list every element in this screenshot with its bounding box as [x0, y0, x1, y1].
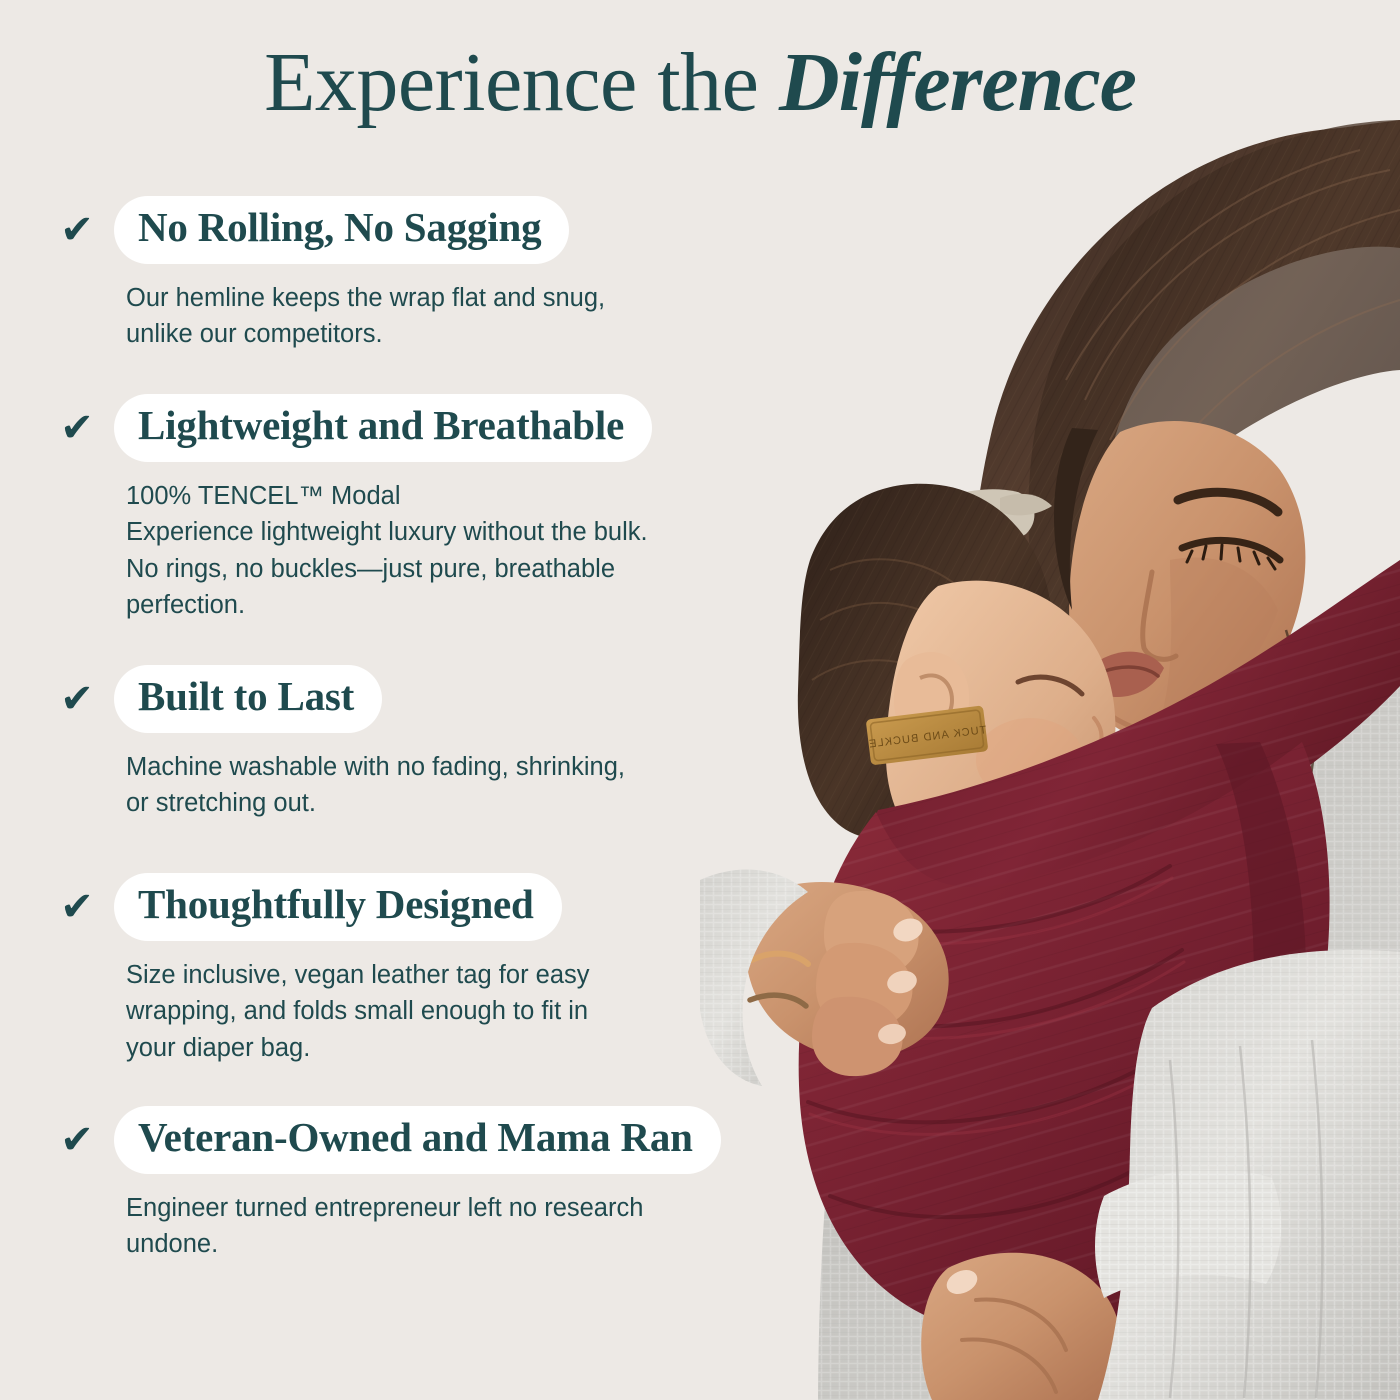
- feature-description: Machine washable with no fading, shrinki…: [126, 749, 746, 821]
- feature-heading-row: ✔ Lightweight and Breathable: [0, 394, 800, 462]
- feature-heading-row: ✔ Thoughtfully Designed: [0, 873, 800, 941]
- lifestyle-photo: TUCK AND BUCKLE: [700, 0, 1400, 1400]
- feature-description: Engineer turned entrepreneur left no res…: [126, 1190, 746, 1262]
- page-title-regular: Experience the: [264, 36, 779, 129]
- check-icon: ✔: [54, 210, 100, 250]
- feature-description: Size inclusive, vegan leather tag for ea…: [126, 957, 746, 1066]
- feature-heading: Lightweight and Breathable: [114, 394, 652, 462]
- feature-heading: No Rolling, No Sagging: [114, 196, 569, 264]
- feature-description: 100% TENCEL™ Modal Experience lightweigh…: [126, 478, 746, 623]
- feature-list: ✔ No Rolling, No Sagging Our hemline kee…: [0, 196, 800, 1262]
- check-icon: ✔: [54, 408, 100, 448]
- feature-item-veteran-owned-and-mama-ran: ✔ Veteran-Owned and Mama Ran Engineer tu…: [0, 1106, 800, 1262]
- page-title: Experience the Difference: [0, 38, 1400, 127]
- promo-graphic: TUCK AND BUCKLE: [0, 0, 1400, 1400]
- feature-item-built-to-last: ✔ Built to Last Machine washable with no…: [0, 665, 800, 821]
- feature-heading-row: ✔ Built to Last: [0, 665, 800, 733]
- feature-description: Our hemline keeps the wrap flat and snug…: [126, 280, 746, 352]
- feature-heading-row: ✔ No Rolling, No Sagging: [0, 196, 800, 264]
- feature-heading: Thoughtfully Designed: [114, 873, 562, 941]
- feature-heading-row: ✔ Veteran-Owned and Mama Ran: [0, 1106, 800, 1174]
- check-icon: ✔: [54, 679, 100, 719]
- feature-item-lightweight-and-breathable: ✔ Lightweight and Breathable 100% TENCEL…: [0, 394, 800, 623]
- feature-item-thoughtfully-designed: ✔ Thoughtfully Designed Size inclusive, …: [0, 873, 800, 1066]
- feature-heading: Veteran-Owned and Mama Ran: [114, 1106, 721, 1174]
- check-icon: ✔: [54, 887, 100, 927]
- check-icon: ✔: [54, 1120, 100, 1160]
- page-title-emphasis: Difference: [779, 36, 1136, 129]
- feature-item-no-rolling-no-sagging: ✔ No Rolling, No Sagging Our hemline kee…: [0, 196, 800, 352]
- feature-heading: Built to Last: [114, 665, 382, 733]
